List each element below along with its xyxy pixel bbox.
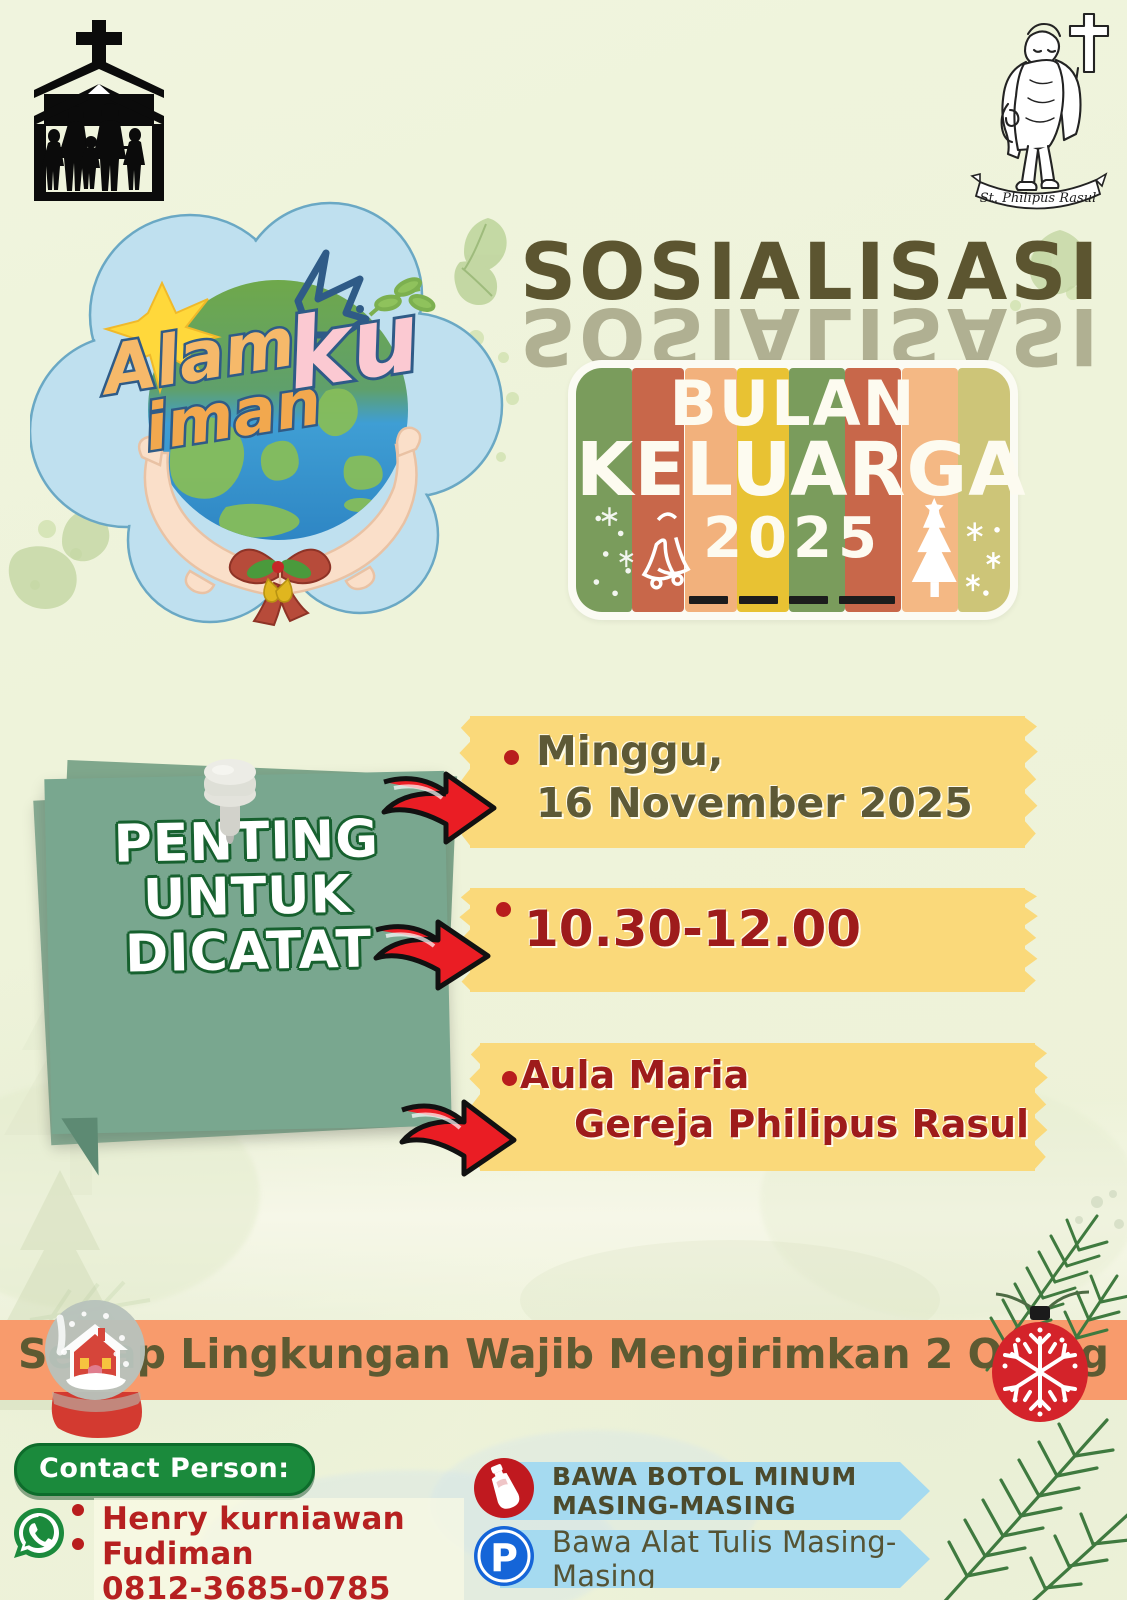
pen-icon: P — [472, 1524, 536, 1588]
contact-bullet-list — [72, 1504, 84, 1550]
requirement-text: Setiap Lingkungan Wajib Mengirimkan 2 Or… — [0, 1330, 1127, 1378]
alam-imanku-emblem: Alam iman ku — [30, 195, 530, 635]
bullet-venue — [502, 1071, 517, 1086]
wordmark-ku: ku — [279, 280, 427, 411]
pushpin-icon — [196, 738, 264, 848]
bullet-date — [504, 750, 519, 765]
contact-bullet-2 — [72, 1538, 84, 1550]
st-philipus-rasul-logo-icon: St. Philipus Rasul — [966, 6, 1111, 211]
parish-logo-caption: St. Philipus Rasul — [980, 191, 1097, 206]
contact-phone: 0812-3685-0785 — [102, 1572, 456, 1600]
detail-time-line1: 10.30-12.00 — [524, 904, 1025, 954]
bulan-keluarga-logo: BULAN KELUARGA 2025 — [568, 360, 1018, 620]
contact-person-badge: Contact Person: — [14, 1443, 315, 1496]
contact-person-label: Contact Person: — [39, 1453, 290, 1484]
svg-text:P: P — [490, 1536, 518, 1580]
detail-tape-time: 10.30-12.00 — [470, 888, 1025, 992]
christmas-ornament-icon — [985, 1290, 1095, 1425]
poster-root: St. Philipus Rasul — [0, 0, 1127, 1600]
contact-name: Henry kurniawan Fudiman — [102, 1502, 456, 1572]
page-title-sosialisasi: SOSIALISASI SOSIALISASI — [520, 228, 1095, 353]
church-family-logo-icon — [14, 12, 184, 207]
bring-item-stationery: Bawa Alat Tulis Masing-Masing — [500, 1530, 930, 1588]
water-bottle-icon — [472, 1456, 536, 1520]
whatsapp-icon[interactable] — [12, 1506, 66, 1560]
event-logo-year: 2025 — [576, 510, 1010, 568]
red-arrow-icon-3 — [398, 1090, 520, 1178]
bring-item-bottle: BAWA BOTOL MINUM MASING-MASING — [500, 1462, 930, 1520]
detail-venue-line2: Gereja Philipus Rasul — [520, 1100, 1035, 1149]
contact-details: Henry kurniawan Fudiman 0812-3685-0785 — [94, 1498, 464, 1600]
ghost-band-texture — [520, 1180, 940, 1340]
bring-item-bottle-text: BAWA BOTOL MINUM MASING-MASING — [500, 1462, 930, 1520]
note-fold-corner — [61, 1118, 98, 1177]
red-arrow-icon-2 — [372, 912, 494, 992]
bring-item-stationery-text: Bawa Alat Tulis Masing-Masing — [500, 1525, 930, 1593]
detail-tape-venue: Aula Maria Gereja Philipus Rasul — [480, 1043, 1035, 1171]
detail-tape-date: Minggu, 16 November 2025 — [470, 716, 1025, 848]
contact-bullet-1 — [72, 1504, 84, 1516]
event-logo-line2: KELUARGA — [576, 432, 1010, 508]
detail-date-line1: Minggu, — [536, 726, 1025, 778]
detail-date-line2: 16 November 2025 — [536, 778, 1025, 830]
detail-venue-line1: Aula Maria — [520, 1051, 1035, 1100]
bullet-time — [496, 902, 511, 917]
red-arrow-icon-1 — [380, 764, 500, 846]
snow-globe-icon — [36, 1288, 154, 1438]
